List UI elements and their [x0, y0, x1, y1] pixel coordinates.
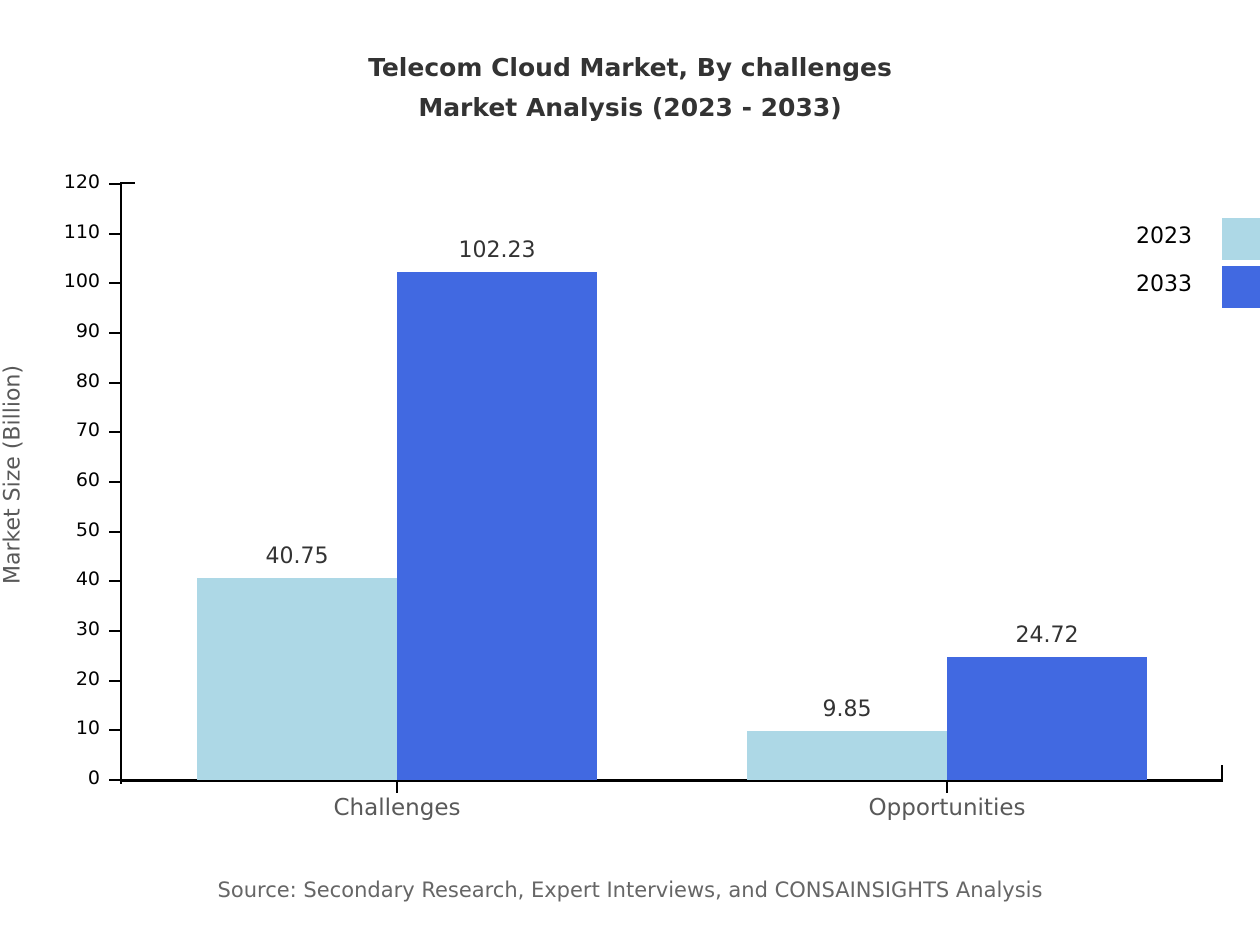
- bar-value-label: 40.75: [266, 544, 329, 569]
- legend: 2023 2033: [1120, 215, 1260, 311]
- chart-title: Telecom Cloud Market, By challenges Mark…: [0, 48, 1260, 128]
- y-tick-label: 120: [64, 171, 100, 193]
- y-tick-mark: [109, 630, 122, 632]
- y-tick-label: 50: [76, 519, 100, 541]
- y-tick-label: 90: [76, 320, 100, 342]
- y-tick-label: 10: [76, 717, 100, 739]
- y-tick-mark: [109, 779, 122, 781]
- plot-area: 40.75102.239.8524.72: [122, 184, 1222, 780]
- bar-challenges-2023[interactable]: 40.75: [197, 578, 397, 780]
- y-tick-label: 110: [64, 221, 100, 243]
- bar-value-label: 24.72: [1016, 623, 1079, 648]
- source-note: Source: Secondary Research, Expert Inter…: [0, 878, 1260, 902]
- x-tick-mark: [396, 781, 398, 793]
- chart-title-line2: Market Analysis (2023 - 2033): [0, 88, 1260, 128]
- chart-title-line1: Telecom Cloud Market, By challenges: [368, 53, 892, 82]
- legend-item-2023[interactable]: 2023: [1120, 215, 1260, 263]
- bar-chart: Telecom Cloud Market, By challenges Mark…: [0, 0, 1260, 920]
- y-tick-label: 80: [76, 370, 100, 392]
- y-tick-label: 60: [76, 469, 100, 491]
- y-tick-label: 70: [76, 419, 100, 441]
- y-tick-mark: [109, 580, 122, 582]
- legend-label-2033: 2033: [1136, 272, 1192, 297]
- bar-value-label: 9.85: [823, 697, 872, 722]
- x-tick-label: Opportunities: [747, 795, 1147, 821]
- legend-item-2033[interactable]: 2033: [1120, 263, 1260, 311]
- bar-value-label: 102.23: [459, 238, 536, 263]
- y-tick-mark: [109, 729, 122, 731]
- y-tick-label: 100: [64, 270, 100, 292]
- y-tick-mark: [109, 680, 122, 682]
- bar-challenges-2033[interactable]: 102.23: [397, 272, 597, 780]
- y-tick-mark: [109, 431, 122, 433]
- x-tick-mark: [946, 781, 948, 793]
- bar-opportunities-2033[interactable]: 24.72: [947, 657, 1147, 780]
- y-tick-mark: [109, 233, 122, 235]
- y-tick-mark: [109, 531, 122, 533]
- y-tick-label: 30: [76, 618, 100, 640]
- y-tick-mark: [109, 382, 122, 384]
- y-tick-mark: [109, 332, 122, 334]
- y-tick-label: 40: [76, 568, 100, 590]
- y-tick-label: 0: [88, 767, 100, 789]
- legend-swatch-2033: [1222, 266, 1260, 308]
- y-tick-mark: [109, 282, 122, 284]
- y-tick-mark: [109, 481, 122, 483]
- y-axis-title: Market Size (Billion): [1, 15, 26, 935]
- legend-label-2023: 2023: [1136, 224, 1192, 249]
- x-tick-label: Challenges: [197, 795, 597, 821]
- bar-opportunities-2023[interactable]: 9.85: [747, 731, 947, 780]
- y-tick-label: 20: [76, 668, 100, 690]
- y-tick-mark: [109, 183, 122, 185]
- legend-swatch-2023: [1222, 218, 1260, 260]
